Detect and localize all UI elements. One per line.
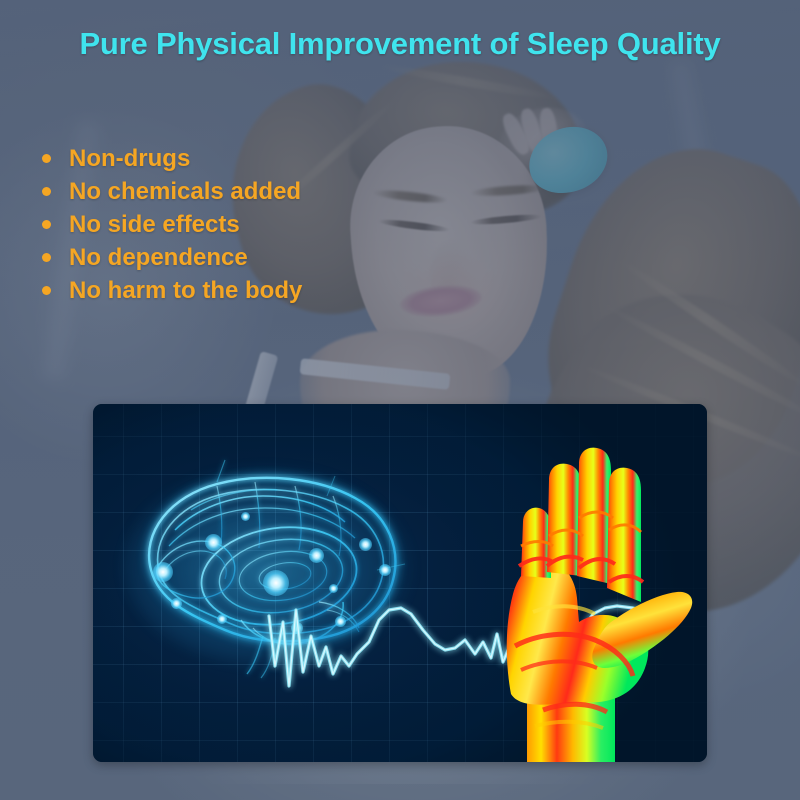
list-item: No harm to the body: [42, 274, 302, 307]
bullet-dot-icon: [42, 253, 51, 262]
list-item: No side effects: [42, 208, 302, 241]
bullet-dot-icon: [42, 286, 51, 295]
list-item-label: No side effects: [69, 211, 240, 239]
list-item: No dependence: [42, 241, 302, 274]
page-title: Pure Physical Improvement of Sleep Quali…: [0, 26, 800, 62]
list-item-label: No chemicals added: [69, 178, 301, 206]
list-item-label: Non-drugs: [69, 145, 190, 173]
list-item-label: No dependence: [69, 244, 248, 272]
bullet-dot-icon: [42, 220, 51, 229]
list-item-label: No harm to the body: [69, 277, 302, 305]
promo-banner: Pure Physical Improvement of Sleep Quali…: [0, 0, 800, 800]
list-item: No chemicals added: [42, 175, 302, 208]
list-item: Non-drugs: [42, 142, 302, 175]
thermal-hand-icon: [491, 426, 703, 762]
benefits-list: Non-drugs No chemicals added No side eff…: [42, 142, 302, 307]
thermal-hand-illustration: [491, 426, 703, 762]
bullet-dot-icon: [42, 154, 51, 163]
bullet-dot-icon: [42, 187, 51, 196]
tech-illustration-panel: [93, 404, 707, 762]
